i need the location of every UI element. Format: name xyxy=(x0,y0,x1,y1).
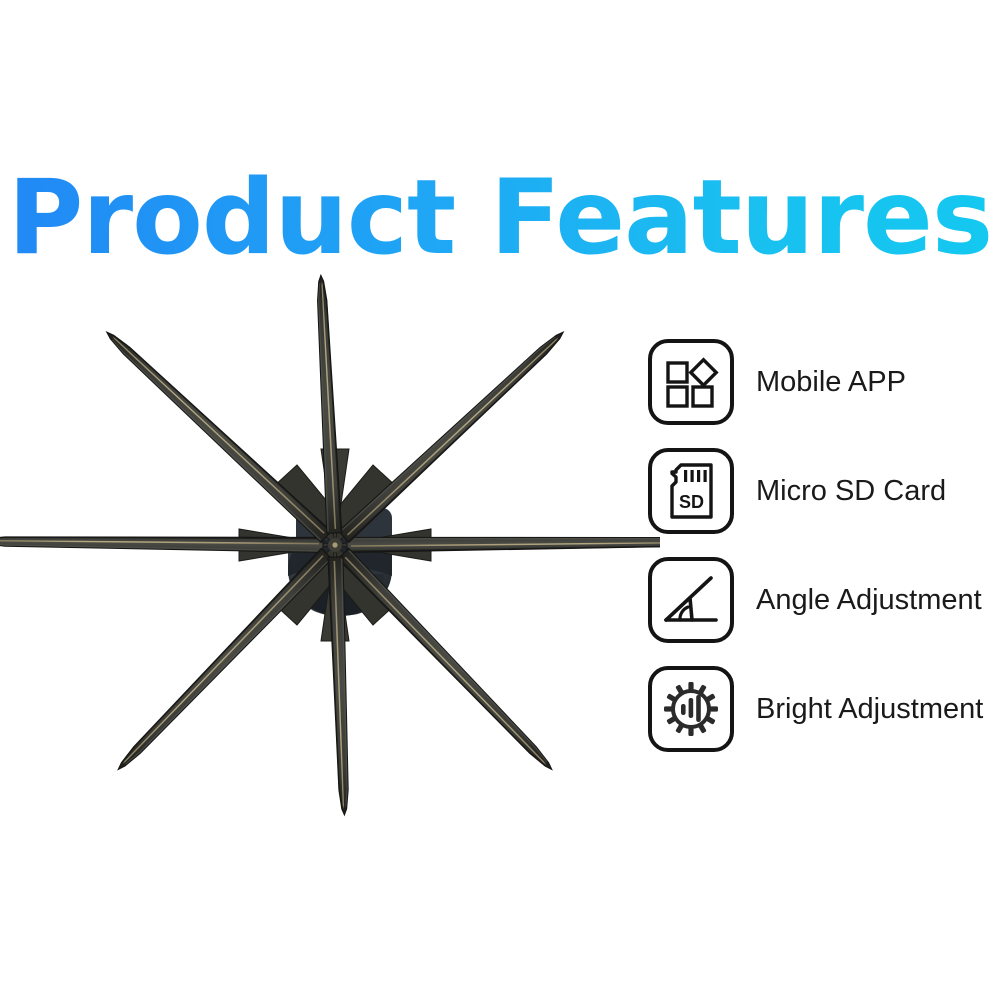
sd-label: SD xyxy=(679,492,704,512)
fan-blade xyxy=(102,327,332,543)
feature-label-angle-adjustment: Angle Adjustment xyxy=(756,586,982,615)
fan-blade xyxy=(347,534,660,552)
feature-label-mobile-app: Mobile APP xyxy=(756,368,906,397)
apps-grid-icon-box xyxy=(648,339,734,425)
feature-item-mobile-app[interactable]: Mobile APP xyxy=(648,338,1000,426)
feature-item-angle-adjustment[interactable]: Angle Adjustment xyxy=(648,556,1000,644)
brightness-gear-icon-box xyxy=(648,666,734,752)
fan-blade xyxy=(339,327,569,543)
hologram-fan-image xyxy=(0,250,660,870)
feature-item-micro-sd-card[interactable]: SD Micro SD Card xyxy=(648,447,1000,535)
fan-blade xyxy=(338,548,557,774)
angle-icon xyxy=(662,573,720,627)
fan-blade xyxy=(113,548,332,774)
micro-sd-card-icon-box: SD xyxy=(648,448,734,534)
fan-center-cap xyxy=(328,538,342,552)
brightness-gear-icon xyxy=(662,680,720,738)
feature-label-micro-sd-card: Micro SD Card xyxy=(756,477,946,506)
angle-icon-box xyxy=(648,557,734,643)
apps-grid-icon xyxy=(663,354,719,410)
micro-sd-card-icon: SD xyxy=(663,462,719,520)
feature-item-bright-adjustment[interactable]: Bright Adjustment xyxy=(648,665,1000,753)
fan-blades-graphic xyxy=(0,250,660,870)
product-features-page: Product Features xyxy=(0,0,1000,1000)
feature-label-bright-adjustment: Bright Adjustment xyxy=(756,695,983,724)
feature-list: Mobile APP SD Micro SD Card xyxy=(648,338,1000,753)
